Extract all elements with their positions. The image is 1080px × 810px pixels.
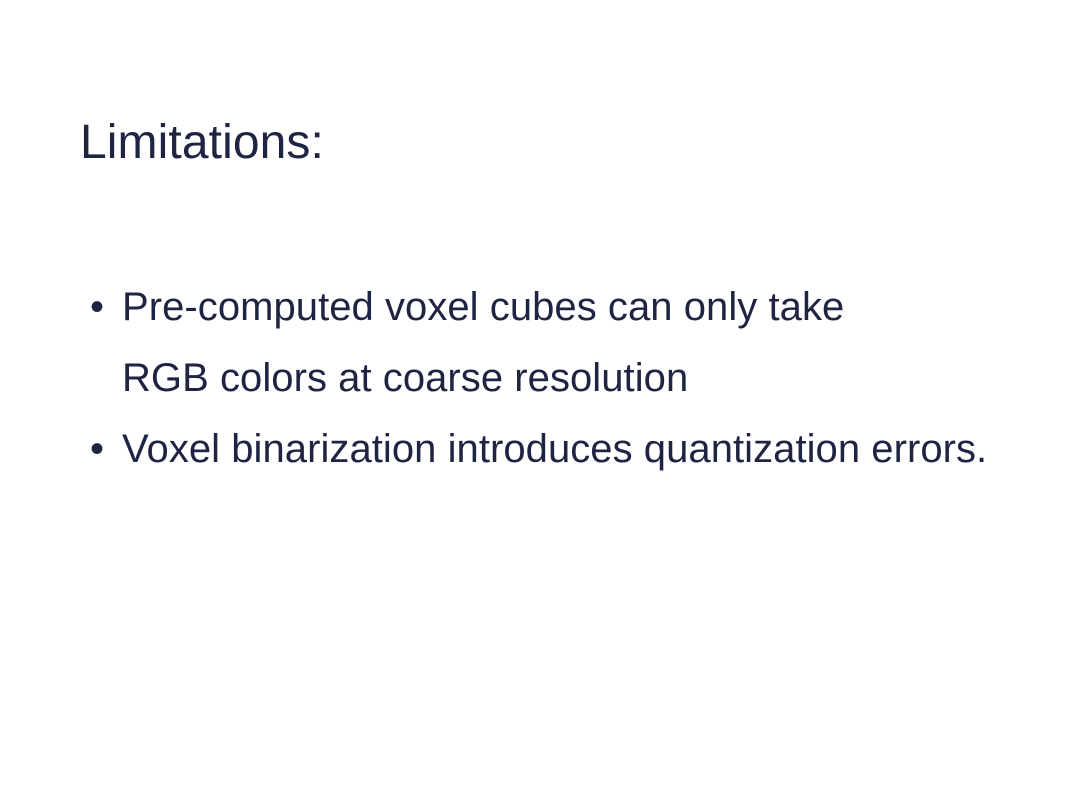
bullet-point-icon: • (90, 414, 112, 485)
list-item-label: Voxel binarization introduces quantizati… (122, 414, 1008, 485)
bullet-point-icon: • (90, 272, 112, 343)
bullet-list: • Pre-computed voxel cubes can only take… (88, 272, 1008, 485)
list-item: • Voxel binarization introduces quantiza… (88, 414, 1008, 485)
list-item-label: Pre-computed voxel cubes can only take R… (122, 272, 934, 414)
presentation-slide: Limitations: • Pre-computed voxel cubes … (0, 0, 1080, 810)
page-title: Limitations: (80, 114, 324, 172)
list-item: • Pre-computed voxel cubes can only take… (88, 272, 1008, 414)
